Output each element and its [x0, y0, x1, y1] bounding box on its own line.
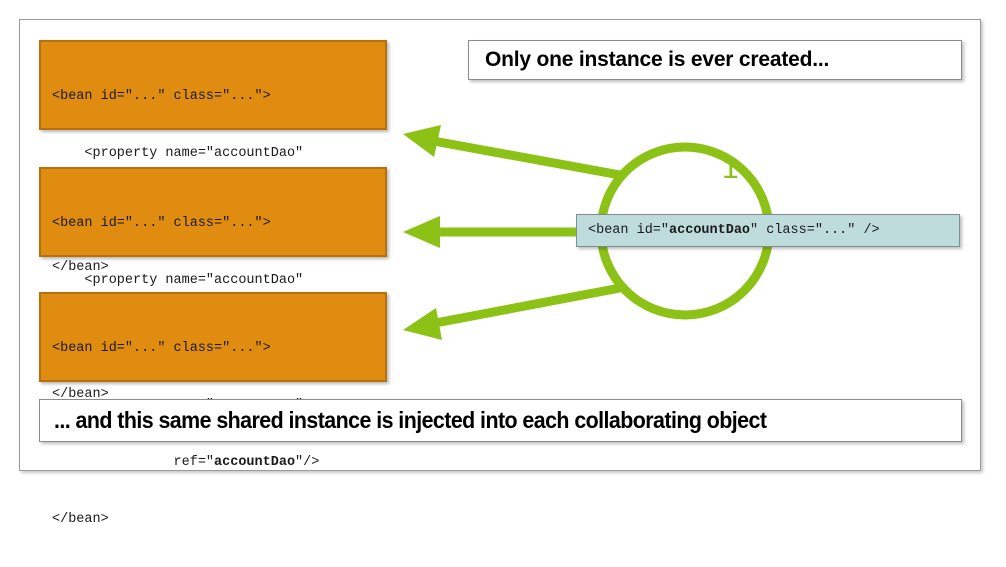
- code-line: <property name="accountDao": [52, 144, 375, 163]
- collaborator-bean-box-1: <bean id="..." class="..."> <property na…: [39, 40, 387, 130]
- collaborator-bean-box-3: <bean id="..." class="..."> <property na…: [39, 292, 387, 382]
- caption-bottom: ... and this same shared instance is inj…: [39, 399, 962, 442]
- code-line: <bean id="..." class="...">: [52, 214, 375, 233]
- code-line: </bean>: [52, 510, 375, 529]
- caption-bottom-text: ... and this same shared instance is inj…: [54, 407, 766, 434]
- code-line: <property name="accountDao": [52, 271, 375, 290]
- caption-top: Only one instance is ever created...: [468, 40, 962, 80]
- code-line: <bean id="..." class="...">: [52, 339, 375, 358]
- instance-count-label: 1: [722, 152, 739, 186]
- collaborator-bean-box-2: <bean id="..." class="..."> <property na…: [39, 167, 387, 257]
- code-line: ref="accountDao"/>: [52, 453, 375, 472]
- singleton-bean-definition: <bean id="accountDao" class="..." />: [576, 214, 960, 247]
- code-line: <bean id="..." class="...">: [52, 87, 375, 106]
- caption-top-text: Only one instance is ever created...: [485, 48, 829, 72]
- diagram-canvas: <bean id="..." class="..."> <property na…: [0, 0, 1006, 498]
